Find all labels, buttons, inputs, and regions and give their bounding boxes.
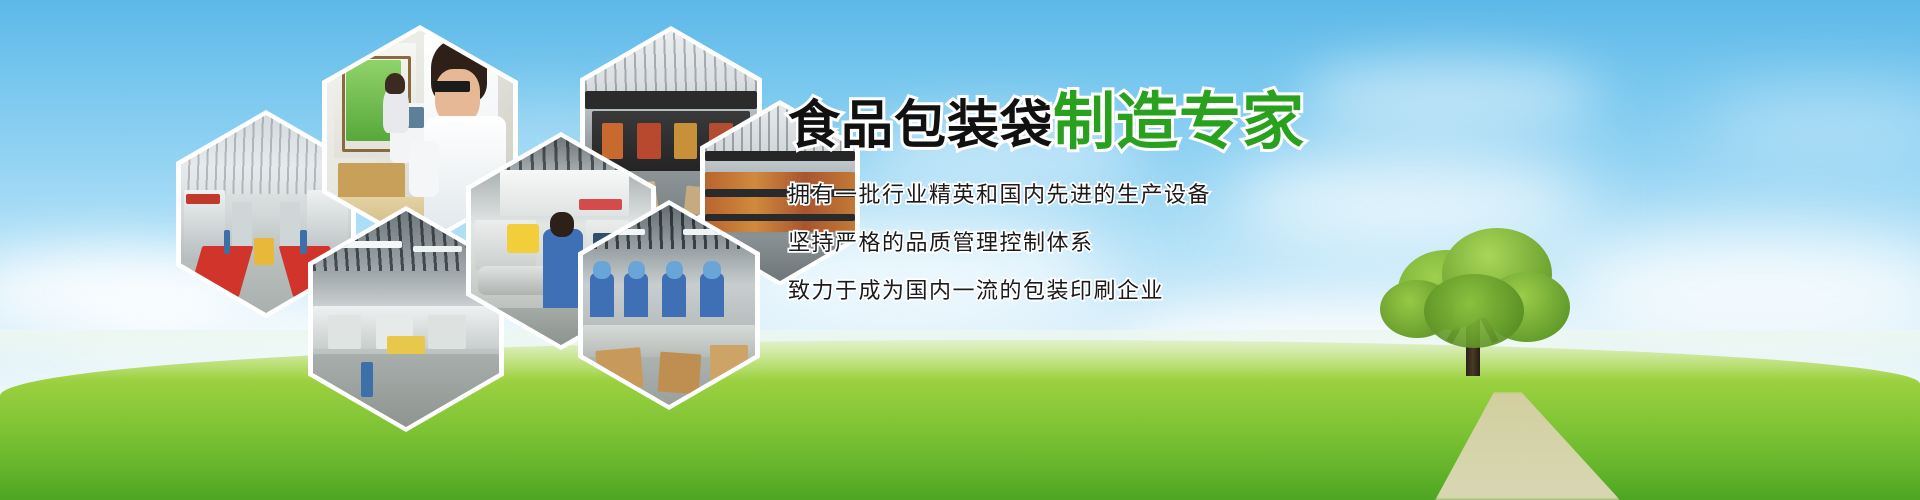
subtitle-line-2: 坚持严格的品质管理控制体系 [788,232,1848,254]
subtitle-line-1: 拥有一批行业精英和国内先进的生产设备 [788,184,1848,206]
subtitle-list: 拥有一批行业精英和国内先进的生产设备 坚持严格的品质管理控制体系 致力于成为国内… [788,184,1848,302]
headline: 食品包装袋制造专家 [788,92,1848,154]
hexagon-photo-cluster [0,0,820,380]
promo-banner: 食品包装袋制造专家 拥有一批行业精英和国内先进的生产设备 坚持严格的品质管理控制… [0,0,1920,500]
banner-text-block: 食品包装袋制造专家 拥有一批行业精英和国内先进的生产设备 坚持严格的品质管理控制… [788,92,1848,328]
subtitle-line-3: 致力于成为国内一流的包装印刷企业 [788,280,1848,302]
headline-green-part: 制造专家 [1053,88,1305,157]
headline-dark-part: 食品包装袋 [788,97,1053,155]
